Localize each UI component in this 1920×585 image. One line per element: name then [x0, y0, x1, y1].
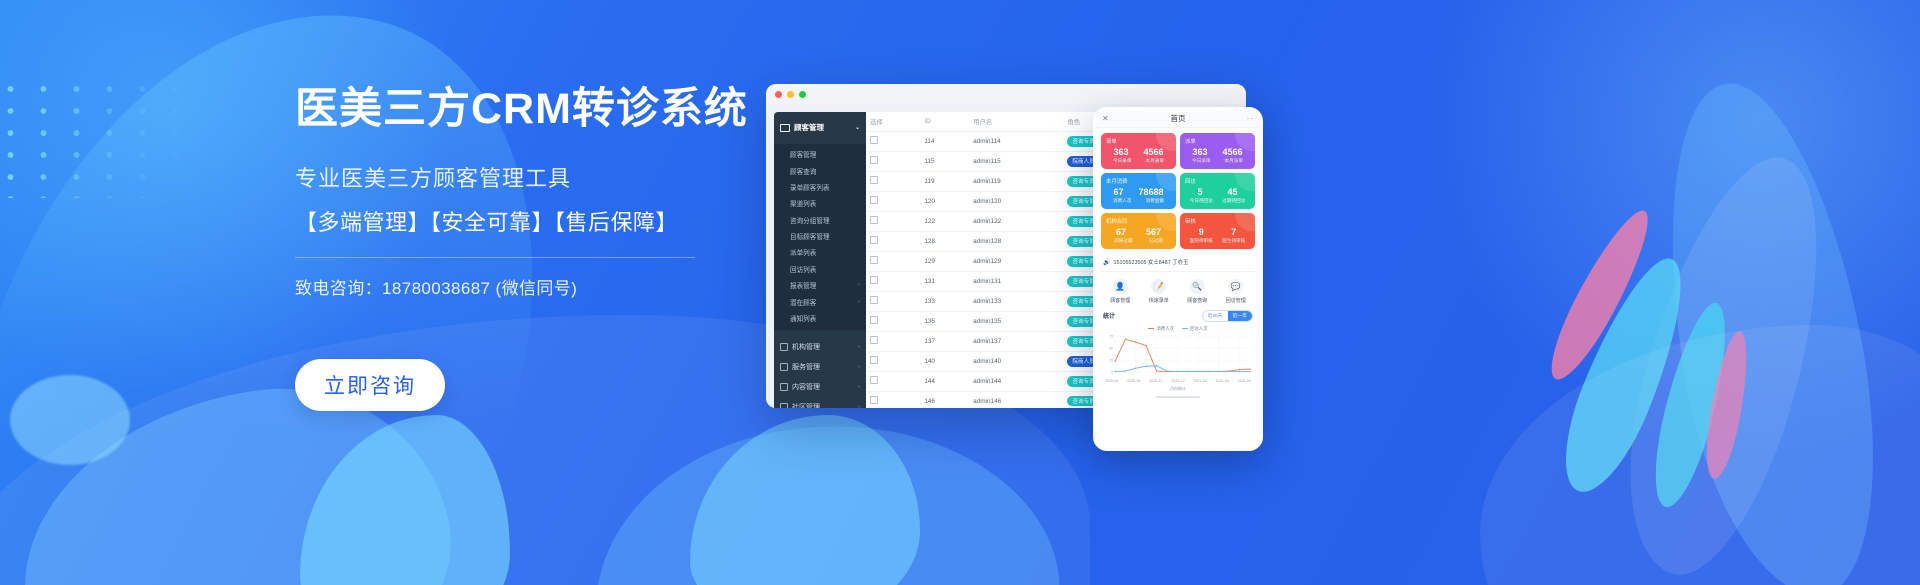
- quick-action-回访管理[interactable]: 💬回访管理: [1226, 279, 1246, 304]
- range-option-近一年[interactable]: 近一年: [1228, 311, 1252, 321]
- sidebar-group-label: 社区管理: [792, 402, 820, 408]
- row-username: admin129: [969, 251, 1063, 271]
- stat-card-title: 派单: [1185, 137, 1250, 145]
- row-username: admin119: [969, 171, 1063, 191]
- row-select-cell[interactable]: [866, 391, 920, 408]
- sidebar-item-label: 派单列表: [790, 247, 816, 257]
- row-select-cell[interactable]: [866, 191, 920, 211]
- row-select-cell[interactable]: [866, 371, 920, 391]
- phone-body: 录单3634566今日录单本月录单派单3634566今日派单本月派单本月消费67…: [1096, 128, 1260, 403]
- cloud-icon: [780, 363, 788, 371]
- chart-data-point: [1197, 371, 1198, 372]
- stat-card-values: 6778688: [1106, 187, 1171, 197]
- row-username: admin122: [969, 211, 1063, 231]
- stats-header: 统计 近30天近一年: [1101, 308, 1255, 326]
- browser-titlebar: [766, 84, 1246, 104]
- divider: [295, 257, 695, 258]
- chart-data-point: [1156, 365, 1157, 366]
- row-checkbox[interactable]: [870, 376, 878, 384]
- stat-value-primary: 5: [1197, 187, 1202, 197]
- stat-card-4[interactable]: 回访545今日待回访过期待回访: [1180, 173, 1255, 209]
- row-id: 133: [920, 291, 969, 311]
- sidebar-item-2[interactable]: 顾客查询: [774, 162, 866, 178]
- stat-card-title: 录单: [1106, 137, 1171, 145]
- sidebar-item-label: 目标顾客管理: [790, 231, 830, 241]
- sidebar-item-label: 潜在顾客: [790, 297, 816, 307]
- stat-label-secondary: 已过期: [1149, 238, 1163, 244]
- promo-banner: 医美三方CRM转诊系统 专业医美三方顾客管理工具 【多端管理】【安全可靠】【售后…: [0, 0, 1920, 585]
- window-minimize-dot[interactable]: [787, 91, 794, 98]
- sidebar-item-label: 通知列表: [790, 313, 816, 323]
- stat-card-values: 3634566: [1185, 147, 1250, 157]
- legend-entry: 回访人次: [1182, 326, 1208, 332]
- stat-value-primary: 363: [1113, 147, 1128, 157]
- chevron-right-icon: ‹: [858, 364, 860, 370]
- banner-subtitle: 专业医美三方顾客管理工具: [295, 161, 715, 193]
- circle-icon: [780, 403, 788, 408]
- row-checkbox[interactable]: [870, 196, 878, 204]
- row-checkbox[interactable]: [870, 136, 878, 144]
- chart-y-tick: 50: [1109, 346, 1113, 350]
- stat-card-values: 545: [1185, 187, 1250, 197]
- row-select-cell[interactable]: [866, 132, 920, 152]
- sidebar-item-8[interactable]: 回访列表: [774, 261, 866, 277]
- stat-card-title: 机构合同: [1106, 217, 1171, 225]
- stat-value-secondary: 4566: [1222, 147, 1242, 157]
- chart-footer-legend: 月份统计: [1101, 386, 1255, 392]
- row-checkbox[interactable]: [870, 396, 878, 404]
- chart-data-point: [1125, 338, 1126, 339]
- stat-value-primary: 9: [1199, 227, 1204, 237]
- row-select-cell[interactable]: [866, 271, 920, 291]
- sidebar-item-label: 渠道列表: [790, 198, 816, 208]
- edit-form-icon: 📝: [1151, 279, 1166, 294]
- quick-action-顾客查询[interactable]: 🔍顾客查询: [1187, 279, 1207, 304]
- row-select-cell[interactable]: [866, 231, 920, 251]
- chart-data-point: [1249, 368, 1250, 369]
- stat-value-primary: 67: [1116, 227, 1126, 237]
- stat-value-secondary: 567: [1146, 227, 1161, 237]
- sidebar-group-1[interactable]: 机构管理‹: [774, 337, 866, 357]
- row-select-cell[interactable]: [866, 171, 920, 191]
- page-title: 医美三方CRM转诊系统: [295, 84, 715, 135]
- quick-action-label: 快速录单: [1149, 297, 1169, 304]
- window-close-dot[interactable]: [775, 91, 782, 98]
- phone-title: 首页: [1171, 113, 1186, 124]
- contact-phone: 致电咨询：18780038687 (微信同号): [295, 274, 715, 299]
- stat-card-labels: 即将过期已过期: [1106, 238, 1171, 244]
- chart-x-tick: 2020-06: [1105, 379, 1118, 383]
- chart-data-point: [1145, 345, 1146, 346]
- quick-action-label: 回访管理: [1226, 297, 1246, 304]
- chart-y-tick: 75: [1109, 334, 1113, 338]
- row-username: admin146: [969, 391, 1063, 408]
- chart-data-point: [1187, 371, 1188, 372]
- chart-x-tick: 2020-10: [1149, 379, 1162, 383]
- row-checkbox[interactable]: [870, 176, 878, 184]
- stat-card-labels: 医院待审核医生待审核: [1185, 238, 1250, 244]
- quick-action-顾客管理[interactable]: 👤顾客管理: [1110, 279, 1130, 304]
- stat-card-1[interactable]: 录单3634566今日录单本月录单: [1101, 133, 1176, 169]
- chart-data-point: [1218, 371, 1219, 372]
- row-username: admin144: [969, 371, 1063, 391]
- row-id: 129: [920, 251, 969, 271]
- chart-data-point: [1135, 341, 1136, 342]
- stats-line-chart: 0255075: [1103, 333, 1253, 379]
- chart-x-tick: 2021-04: [1216, 379, 1229, 383]
- chevron-right-icon: ‹: [858, 384, 860, 390]
- sidebar-item-label: 回访列表: [790, 264, 816, 274]
- table-header-cell: 选择: [866, 112, 920, 132]
- quick-action-row: 👤顾客管理📝快速录单🔍顾客查询💬回访管理: [1101, 272, 1255, 308]
- stat-card-grid: 录单3634566今日录单本月录单派单3634566今日派单本月派单本月消费67…: [1101, 133, 1255, 249]
- chart-data-point: [1135, 367, 1136, 368]
- chart-x-tick: 2021-02: [1194, 379, 1207, 383]
- chart-x-tick: 2021-06: [1238, 379, 1251, 383]
- stat-card-values: 97: [1185, 227, 1250, 237]
- chat-icon: 💬: [1228, 279, 1243, 294]
- chart-y-tick: 0: [1111, 370, 1113, 374]
- stat-card-values: 3634566: [1106, 147, 1171, 157]
- table-header-cell: ID: [920, 112, 969, 132]
- blob-left-small: [10, 375, 130, 465]
- stat-label-secondary: 本月录单: [1146, 158, 1164, 164]
- chart-data-point: [1166, 370, 1167, 371]
- row-id: 128: [920, 231, 969, 251]
- row-checkbox[interactable]: [870, 336, 878, 344]
- stat-card-6[interactable]: 审核97医院待审核医生待审核: [1180, 213, 1255, 249]
- stat-value-secondary: 45: [1227, 187, 1237, 197]
- mobile-app-screenshot: ✕ 首页 ·· 录单3634566今日录单本月录单派单3634566今日派单本月…: [1093, 107, 1263, 451]
- chevron-right-icon: ‹: [858, 282, 860, 288]
- chevron-down-icon: ⌄: [855, 124, 860, 131]
- notice-bar[interactable]: 🔊 15105523505 女士8487 丁亦玉: [1101, 253, 1255, 272]
- row-username: admin140: [969, 351, 1063, 371]
- chevron-right-icon: ‹: [858, 344, 860, 350]
- stat-label-primary: 消费人次: [1113, 198, 1131, 204]
- close-icon[interactable]: ✕: [1102, 114, 1109, 123]
- chart-data-point: [1145, 365, 1146, 366]
- chart-data-point: [1208, 371, 1209, 372]
- row-id: 146: [920, 391, 969, 408]
- range-option-近30天[interactable]: 近30天: [1203, 311, 1228, 321]
- sidebar-item-7[interactable]: 派单列表: [774, 244, 866, 260]
- row-username: admin137: [969, 331, 1063, 351]
- stats-title: 统计: [1103, 311, 1115, 320]
- row-select-cell[interactable]: [866, 251, 920, 271]
- row-checkbox[interactable]: [870, 296, 878, 304]
- window-maximize-dot[interactable]: [799, 91, 806, 98]
- sidebar-group-label: 服务管理: [792, 362, 820, 372]
- row-select-cell[interactable]: [866, 211, 920, 231]
- row-id: 131: [920, 271, 969, 291]
- row-username: admin114: [969, 132, 1063, 152]
- row-checkbox[interactable]: [870, 156, 878, 164]
- stat-value-primary: 67: [1113, 187, 1123, 197]
- building-icon: [780, 343, 788, 351]
- chart-x-tick: 2020-08: [1127, 379, 1140, 383]
- stat-value-primary: 363: [1192, 147, 1207, 157]
- stat-value-secondary: 7: [1231, 227, 1236, 237]
- stat-value-secondary: 78688: [1138, 187, 1163, 197]
- sidebar-item-6[interactable]: 目标顾客管理: [774, 228, 866, 244]
- stat-card-2[interactable]: 派单3634566今日派单本月派单: [1180, 133, 1255, 169]
- sidebar-item-label: 咨询分组管理: [790, 215, 830, 225]
- stat-label-primary: 即将过期: [1114, 238, 1132, 244]
- image-icon: [780, 383, 788, 391]
- row-id: 115: [920, 151, 969, 171]
- sidebar-header-customer[interactable]: 顾客管理 ⌄: [774, 118, 866, 137]
- sidebar-item-10[interactable]: 潜在顾客‹: [774, 293, 866, 309]
- monitor-icon: [780, 124, 790, 132]
- chart-data-point: [1249, 371, 1250, 372]
- quick-action-label: 顾客管理: [1110, 297, 1130, 304]
- chart-x-axis-labels: 2020-062020-082020-102020-122021-022021-…: [1101, 379, 1255, 383]
- stat-label-primary: 今日录单: [1113, 158, 1131, 164]
- chart-data-point: [1114, 371, 1115, 372]
- row-username: admin115: [969, 151, 1063, 171]
- chart-data-point: [1177, 371, 1178, 372]
- row-username: admin133: [969, 291, 1063, 311]
- stat-value-secondary: 4566: [1143, 147, 1163, 157]
- chart-legend: 消费人次回访人次: [1101, 326, 1255, 332]
- stat-label-secondary: 医生待审核: [1222, 238, 1245, 244]
- phone-titlebar: ✕ 首页 ··: [1096, 110, 1260, 128]
- stat-card-labels: 消费人次消费金额: [1106, 198, 1171, 204]
- sidebar-group-label: 机构管理: [792, 342, 820, 352]
- stat-card-values: 67567: [1106, 227, 1171, 237]
- sidebar-group-4[interactable]: 社区管理‹: [774, 397, 866, 408]
- banner-features: 【多端管理】【安全可靠】【售后保障】: [295, 205, 715, 237]
- sidebar-submenu: 顾客管理顾客查询录单顾客列表渠道列表咨询分组管理目标顾客管理派单列表回访列表报表…: [774, 144, 866, 330]
- sidebar-group-3[interactable]: 内容管理‹: [774, 377, 866, 397]
- row-select-cell[interactable]: [866, 151, 920, 171]
- row-checkbox[interactable]: [870, 216, 878, 224]
- row-checkbox[interactable]: [870, 276, 878, 284]
- sidebar-item-label: 报表管理: [790, 280, 816, 290]
- chevron-right-icon: ‹: [858, 299, 860, 305]
- row-select-cell[interactable]: [866, 291, 920, 311]
- chart-series-line: [1115, 339, 1250, 371]
- sidebar-header-label: 顾客管理: [794, 122, 824, 133]
- legend-swatch: [1148, 328, 1154, 329]
- row-id: 119: [920, 171, 969, 191]
- stat-card-labels: 今日派单本月派单: [1185, 158, 1250, 164]
- row-checkbox[interactable]: [870, 256, 878, 264]
- sidebar-item-1[interactable]: 顾客管理: [774, 146, 866, 162]
- row-select-cell[interactable]: [866, 311, 920, 331]
- consult-now-button[interactable]: 立即咨询: [295, 359, 445, 411]
- sidebar-item-9[interactable]: 报表管理‹: [774, 277, 866, 293]
- sidebar-item-3[interactable]: 录单顾客列表: [774, 179, 866, 195]
- row-id: 114: [920, 132, 969, 152]
- more-icon[interactable]: ··: [1247, 114, 1254, 123]
- chevron-right-icon: ‹: [858, 404, 860, 408]
- stat-label-primary: 今日派单: [1192, 158, 1210, 164]
- row-id: 140: [920, 351, 969, 371]
- stat-label-secondary: 消费金额: [1146, 198, 1164, 204]
- chart-x-tick: 2020-12: [1171, 379, 1184, 383]
- sidebar-group-2[interactable]: 服务管理‹: [774, 357, 866, 377]
- home-indicator: [1156, 396, 1200, 398]
- row-id: 135: [920, 311, 969, 331]
- legend-swatch: [1182, 328, 1188, 329]
- row-id: 122: [920, 211, 969, 231]
- quick-action-label: 顾客查询: [1187, 297, 1207, 304]
- chart-data-point: [1125, 370, 1126, 371]
- app-sidebar: 顾客管理 ⌄ 顾客管理顾客查询录单顾客列表渠道列表咨询分组管理目标顾客管理派单列…: [774, 112, 866, 408]
- stat-card-title: 本月消费: [1106, 177, 1171, 185]
- sidebar-item-11[interactable]: 通知列表: [774, 310, 866, 326]
- legend-entry: 消费人次: [1148, 326, 1174, 332]
- sidebar-item-label: 顾客管理: [790, 149, 816, 159]
- range-toggle[interactable]: 近30天近一年: [1202, 310, 1253, 322]
- row-id: 120: [920, 191, 969, 211]
- quick-action-快速录单[interactable]: 📝快速录单: [1149, 279, 1169, 304]
- search-card-icon: 🔍: [1190, 279, 1205, 294]
- chart-data-point: [1156, 370, 1157, 371]
- row-id: 144: [920, 371, 969, 391]
- stat-card-labels: 今日待回访过期待回访: [1185, 198, 1250, 204]
- stat-label-secondary: 过期待回访: [1222, 198, 1245, 204]
- sidebar-groups: 机构管理‹服务管理‹内容管理‹社区管理‹系统管理‹: [774, 337, 866, 408]
- row-username: admin128: [969, 231, 1063, 251]
- table-header-cell: 用户名: [969, 112, 1063, 132]
- row-username: admin135: [969, 311, 1063, 331]
- row-checkbox[interactable]: [870, 316, 878, 324]
- user-icon: 👤: [1113, 279, 1128, 294]
- stat-card-title: 回访: [1185, 177, 1250, 185]
- speaker-icon: 🔊: [1103, 259, 1110, 266]
- banner-copy: 医美三方CRM转诊系统 专业医美三方顾客管理工具 【多端管理】【安全可靠】【售后…: [295, 84, 715, 299]
- row-checkbox[interactable]: [870, 236, 878, 244]
- chart-data-point: [1239, 369, 1240, 370]
- row-checkbox[interactable]: [870, 356, 878, 364]
- sidebar-group-label: 内容管理: [792, 382, 820, 392]
- chart-data-point: [1229, 371, 1230, 372]
- row-select-cell[interactable]: [866, 331, 920, 351]
- stat-label-secondary: 本月派单: [1225, 158, 1243, 164]
- chart-data-point: [1239, 371, 1240, 372]
- sidebar-item-4[interactable]: 渠道列表: [774, 195, 866, 211]
- row-username: admin120: [969, 191, 1063, 211]
- stat-card-5[interactable]: 机构合同67567即将过期已过期: [1101, 213, 1176, 249]
- chart-svg: 0255075: [1103, 333, 1253, 379]
- sidebar-item-label: 顾客查询: [790, 166, 816, 176]
- stat-label-primary: 医院待审核: [1190, 238, 1213, 244]
- sidebar-item-5[interactable]: 咨询分组管理: [774, 212, 866, 228]
- stat-card-title: 审核: [1185, 217, 1250, 225]
- row-select-cell[interactable]: [866, 351, 920, 371]
- sidebar-item-label: 录单顾客列表: [790, 182, 830, 192]
- stat-card-labels: 今日录单本月录单: [1106, 158, 1171, 164]
- chart-y-tick: 25: [1109, 358, 1113, 362]
- stat-label-primary: 今日待回访: [1190, 198, 1213, 204]
- row-id: 137: [920, 331, 969, 351]
- row-username: admin131: [969, 271, 1063, 291]
- stat-card-3[interactable]: 本月消费6778688消费人次消费金额: [1101, 173, 1176, 209]
- chart-data-point: [1114, 360, 1115, 361]
- notice-text: 15105523505 女士8487 丁亦玉: [1113, 258, 1188, 266]
